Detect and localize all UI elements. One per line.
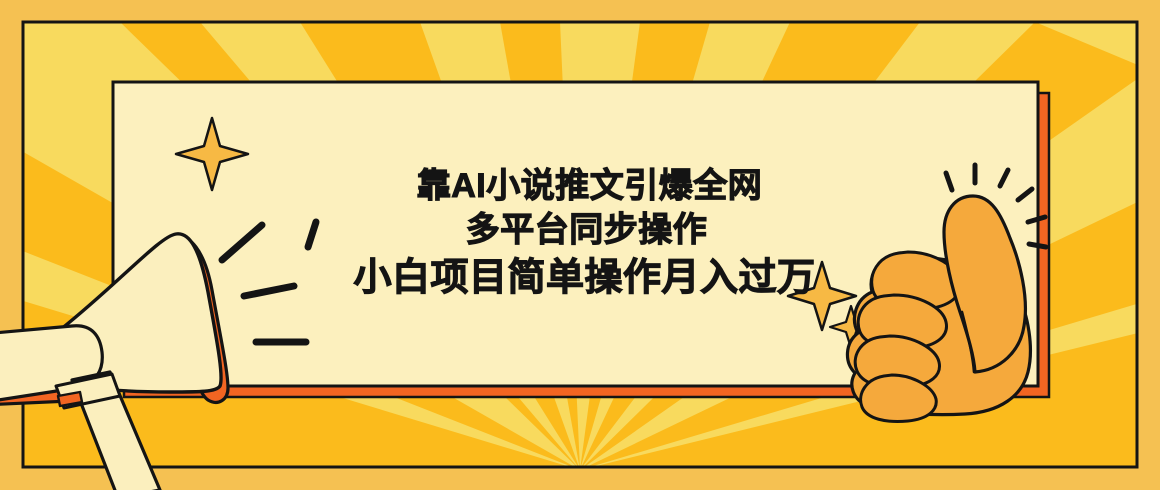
banner-artwork (0, 0, 1160, 490)
promo-banner: 靠AI小说推文引爆全网 多平台同步操作 小白项目简单操作月入过万 (0, 0, 1160, 490)
